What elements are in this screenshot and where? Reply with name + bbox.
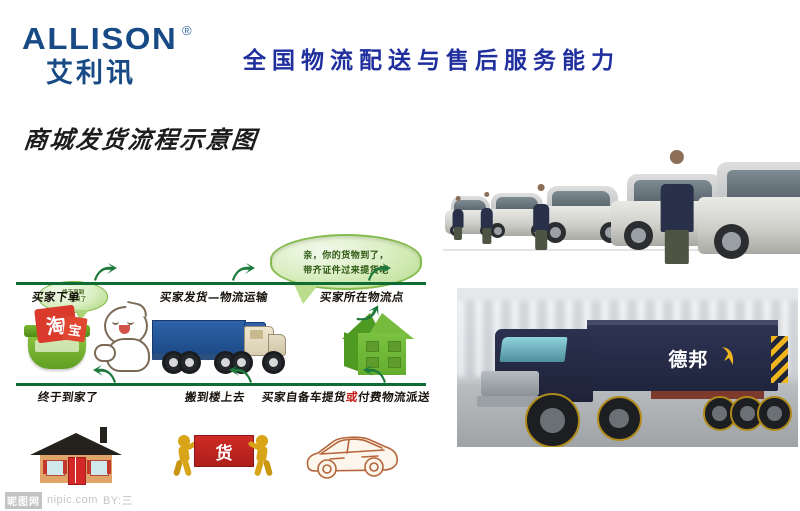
- watermark-site: nipic.com: [47, 494, 98, 506]
- house-shutter: [63, 460, 67, 474]
- home-house-icon: [30, 427, 122, 485]
- pickup-tail: 付费物流派送: [357, 390, 431, 404]
- green-house-window: [366, 341, 379, 352]
- diagram-title: 商城发货流程示意图: [22, 120, 260, 155]
- step-label-pickup-or-delivery: 买家自备车提货或付费物流派送: [261, 389, 431, 405]
- truck-wheel: [178, 351, 201, 374]
- house-door-split: [75, 457, 76, 483]
- house-shutter: [107, 460, 111, 474]
- taobao-char2-icon: 宝: [62, 316, 87, 343]
- fleet-staff-member: [451, 196, 465, 240]
- fleet-staff-member: [479, 192, 495, 244]
- hazard-stripes-icon: [771, 336, 788, 384]
- truck-trailer: [152, 320, 246, 356]
- logo-chinese-name: 艾利讯: [46, 59, 212, 89]
- deppon-logo-text: 德邦: [668, 345, 708, 372]
- truck-grille: [481, 371, 539, 396]
- truck-wheel: [597, 396, 642, 441]
- fleet-vehicle: [698, 152, 800, 254]
- buyer-arm: [94, 344, 116, 362]
- flow-arrow-icon: [230, 262, 256, 282]
- flow-arrow-icon: [366, 262, 392, 282]
- flow-arrow-icon: [228, 364, 254, 384]
- mover-person-right: [250, 435, 274, 477]
- shipping-flow-diagram: 商城发货流程示意图 亲，你的货物到了， 带齐证件过来提货吧 终于买到 宝贝了 淘…: [0, 104, 440, 414]
- step-label-logistics-point: 买家所在物流点: [319, 289, 405, 305]
- slide-root: ALLISON ® 艾利讯 全国物流配送与售后服务能力 商城发货流程示意图 亲，…: [0, 0, 800, 450]
- house-door: [68, 457, 86, 485]
- cartoon-buyer-icon: [96, 304, 158, 372]
- registered-trademark-icon: ®: [182, 23, 192, 38]
- logo-wordmark: ALLISON: [22, 22, 223, 56]
- watermark-block: 昵图网: [5, 492, 42, 509]
- truck-wheel: [757, 396, 792, 431]
- page-title: 全国物流配送与售后服务能力: [243, 41, 743, 75]
- truck-wheel: [262, 351, 285, 374]
- house-shutter: [43, 460, 47, 474]
- watermark: 昵图网 nipic.com BY:三: [5, 489, 325, 511]
- service-fleet-photo: [443, 108, 800, 273]
- cargo-box-icon: 货: [194, 435, 254, 467]
- step-label-shipping: 买家发货—物流运输: [159, 289, 269, 305]
- step-label-carry-upstairs: 搬到楼上去: [184, 389, 246, 405]
- movers-icon: 货: [170, 431, 280, 481]
- semi-truck-icon: [152, 320, 284, 376]
- flow-arrow-icon: [92, 262, 118, 282]
- house-roof: [30, 433, 122, 455]
- gift-box-icon: 淘 宝: [22, 309, 94, 371]
- deppon-truck-photo: 德邦: [457, 288, 798, 447]
- fleet-staff-member-front: [656, 150, 698, 264]
- step-label-arrived-home: 终于到家了: [37, 389, 99, 405]
- green-house-window: [388, 341, 401, 352]
- house-shutter: [87, 460, 91, 474]
- flow-arrow-icon: [362, 364, 388, 384]
- flow-arrow-icon: [92, 364, 118, 384]
- mover-person-left: [172, 435, 196, 477]
- bubble-line-1: 亲，你的货物到了，: [303, 248, 389, 261]
- deppon-arrow-icon: [720, 344, 736, 366]
- company-logo: ALLISON ® 艾利讯: [22, 22, 212, 92]
- green-house-window: [388, 357, 401, 368]
- fleet-staff-member: [531, 184, 551, 250]
- watermark-author: BY:三: [103, 492, 133, 508]
- sketch-car-icon: [300, 429, 404, 481]
- truck-windshield: [500, 337, 568, 362]
- pickup-text: 买家自备车提货: [261, 390, 347, 404]
- step-label-order: 买家下单: [31, 289, 81, 305]
- truck-window: [250, 330, 263, 339]
- flow-divider-row1: [16, 282, 426, 285]
- truck-wheel: [525, 393, 580, 447]
